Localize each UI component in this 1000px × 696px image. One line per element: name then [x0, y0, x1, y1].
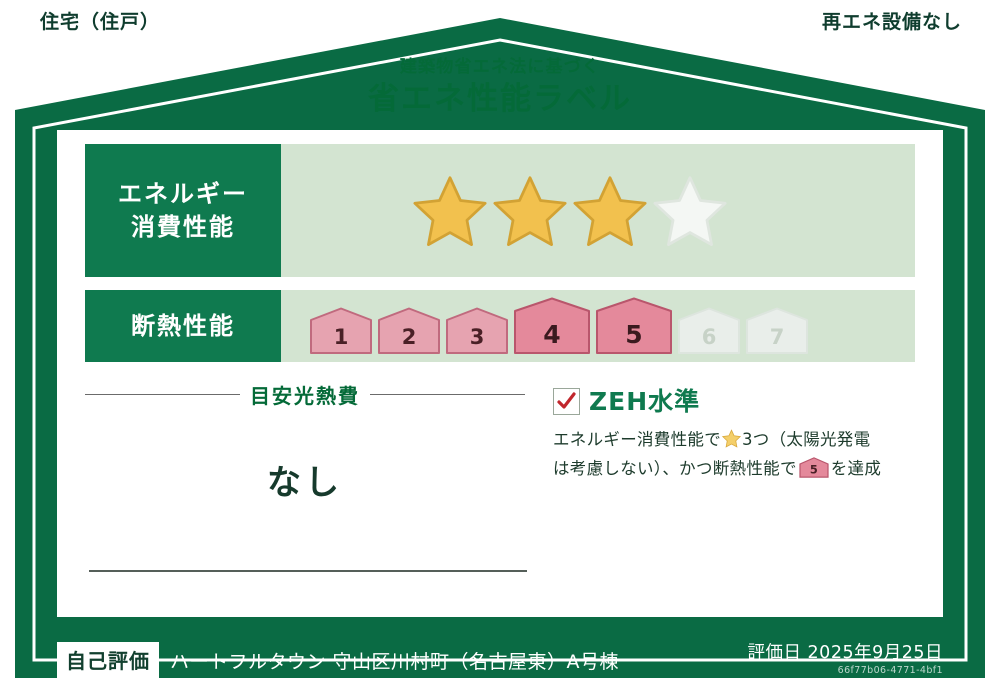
label-content-card: エネルギー 消費性能 断熱性能 1234567 目安光熱費 なし: [57, 130, 943, 617]
insulation-grade-badge-3: 3: [445, 307, 509, 355]
zeh-desc-part2: 3つ（太陽光発電: [742, 430, 870, 449]
estimated-cost-underline: [89, 570, 527, 572]
zeh-grade-number: 5: [810, 463, 818, 477]
zeh-desc-part1: エネルギー消費性能で: [553, 430, 721, 449]
insulation-grade-number: 4: [513, 320, 591, 349]
insulation-grade-number: 2: [377, 325, 441, 349]
insulation-grade-badge-5: 5: [595, 297, 673, 355]
lower-section: 目安光熱費 なし ZEH水準 エネルギー消費性能で: [85, 380, 915, 590]
footer-bar: 自己評価 ハートフルタウン 守山区川村町（名古屋東）A号棟 評価日 2025年9…: [0, 624, 1000, 696]
house-badge-icon: 5: [799, 457, 829, 478]
insulation-performance-row: 断熱性能 1234567: [85, 290, 915, 362]
tag-building-type: 住宅（住戸）: [28, 8, 172, 40]
energy-label-line2: 消費性能: [131, 211, 235, 243]
insulation-grade-number: 1: [309, 325, 373, 349]
insulation-grade-badge-2: 2: [377, 307, 441, 355]
star-empty-icon: [653, 174, 727, 248]
insulation-grade-number: 3: [445, 325, 509, 349]
estimated-cost-heading: 目安光熱費: [85, 380, 525, 409]
insulation-grade-number: 6: [677, 325, 741, 349]
evaluation-id: 66f77b06-4771-4bf1: [747, 666, 943, 677]
star-filled-icon: [493, 174, 567, 248]
estimated-cost-value: なし: [85, 455, 525, 504]
star-icon: [722, 429, 741, 448]
star-filled-icon: [413, 174, 487, 248]
star-rating: [413, 174, 727, 248]
zeh-heading: ZEH水準: [553, 388, 915, 415]
evaluation-info: 評価日 2025年9月25日 66f77b06-4771-4bf1: [747, 643, 943, 676]
energy-performance-label-cell: エネルギー 消費性能: [85, 144, 281, 277]
zeh-grade-badge: 5: [799, 457, 829, 488]
insulation-grade-scale: 1234567: [309, 297, 809, 355]
zeh-title: ZEH水準: [589, 389, 700, 414]
property-name: ハートフルタウン 守山区川村町（名古屋東）A号棟: [170, 647, 619, 674]
evaluation-date: 評価日 2025年9月25日: [747, 643, 943, 663]
zeh-block: ZEH水準 エネルギー消費性能で 3つ（太陽光発電 は考慮しない）、かつ断熱性能…: [525, 380, 915, 590]
energy-performance-row: エネルギー 消費性能: [85, 144, 915, 277]
check-icon: [556, 391, 577, 412]
label-title-block: 建築物省エネ法に基づく 省エネ性能ラベル: [0, 57, 1000, 121]
energy-performance-label: 住宅（住戸） 再エネ設備なし 建築物省エネ法に基づく 省エネ性能ラベル エネルギ…: [0, 0, 1000, 696]
insulation-performance-value-cell: 1234567: [281, 290, 915, 362]
heading-rule-left: [85, 394, 240, 395]
tag-renewable-energy: 再エネ設備なし: [810, 8, 974, 40]
insulation-grade-badge-4: 4: [513, 297, 591, 355]
insulation-grade-number: 7: [745, 325, 809, 349]
estimated-utility-cost-block: 目安光熱費 なし: [85, 380, 525, 590]
estimated-cost-heading-text: 目安光熱費: [250, 380, 360, 409]
self-evaluation-badge: 自己評価: [57, 642, 159, 679]
page-title: 省エネ性能ラベル: [0, 79, 1000, 121]
energy-performance-value-cell: [281, 144, 915, 277]
zeh-desc-part3: は考慮しない）、かつ断熱性能で: [553, 459, 797, 478]
zeh-checkbox[interactable]: [553, 388, 580, 415]
heading-rule-right: [370, 394, 525, 395]
star-filled-icon: [573, 174, 647, 248]
insulation-grade-number: 5: [595, 320, 673, 349]
zeh-description: エネルギー消費性能で 3つ（太陽光発電 は考慮しない）、かつ断熱性能で 5 を達…: [553, 426, 915, 488]
title-subtitle: 建築物省エネ法に基づく: [0, 57, 1000, 77]
insulation-grade-badge-6: 6: [677, 307, 741, 355]
zeh-desc-part4: を達成: [831, 459, 881, 478]
energy-label-line1: エネルギー: [118, 178, 248, 210]
insulation-performance-label-cell: 断熱性能: [85, 290, 281, 362]
insulation-grade-badge-1: 1: [309, 307, 373, 355]
insulation-grade-badge-7: 7: [745, 307, 809, 355]
